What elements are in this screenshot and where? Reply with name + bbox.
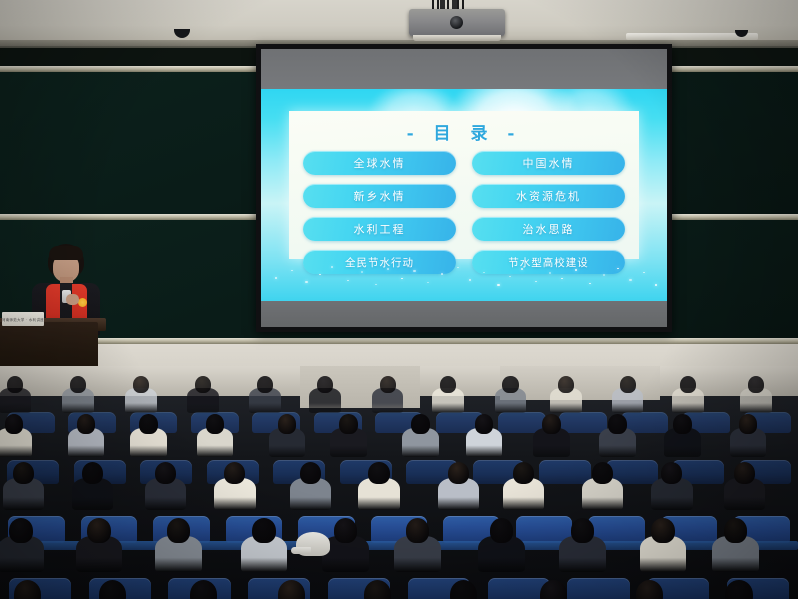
- presentation-slide: - 目 录 - 全球水情 中国水情 新乡水情 水资源危机 水: [261, 89, 667, 301]
- audience-person-head: [734, 462, 755, 484]
- audience-person-head: [206, 414, 225, 434]
- audience-person-head: [224, 462, 245, 484]
- audience-person-head: [475, 414, 494, 434]
- toc-item-campus-saving[interactable]: 节水型高校建设: [472, 250, 625, 274]
- audience-person-head: [5, 414, 24, 434]
- audience-cap: [296, 532, 330, 556]
- toc-item-label: 节水型高校建设: [508, 255, 589, 270]
- audience-person-head: [368, 462, 389, 484]
- audience-person-head: [724, 518, 748, 543]
- audience-area: [0, 366, 798, 599]
- sparkle-dot: [275, 277, 277, 279]
- audience-person-head: [155, 462, 176, 484]
- table-of-contents: 全球水情 中国水情 新乡水情 水资源危机 水利工程 治水思路: [303, 151, 625, 274]
- sparkle-dot: [509, 276, 511, 278]
- toc-item-water-crisis[interactable]: 水资源危机: [472, 184, 625, 208]
- audience-person-head: [608, 414, 627, 434]
- audience-person-head: [252, 518, 276, 543]
- sparkle-dot: [291, 270, 293, 272]
- audience-seat: [567, 578, 629, 599]
- audience-person-head: [748, 376, 764, 393]
- sparkle-dot: [643, 272, 645, 274]
- audience-person-head: [406, 518, 430, 543]
- audience-person-head: [82, 462, 103, 484]
- audience-person-head: [661, 462, 682, 484]
- sparkle-dot: [497, 284, 500, 287]
- toc-item-national-saving[interactable]: 全民节水行动: [303, 250, 456, 274]
- sparkle-dot: [655, 284, 657, 286]
- lectern-name-card-text: 河南师范大学 · 水利讲座: [2, 317, 44, 322]
- audience-person-head: [195, 376, 211, 393]
- audience-person-head: [13, 462, 34, 484]
- toc-item-label: 全球水情: [354, 155, 406, 171]
- audience-person-head: [540, 580, 567, 599]
- audience-person-head: [133, 376, 149, 393]
- projection-screen[interactable]: - 目 录 - 全球水情 中国水情 新乡水情 水资源危机 水: [256, 44, 672, 332]
- sparkle-dot: [561, 278, 563, 280]
- audience-seat: [539, 460, 591, 484]
- audience-person-head: [380, 376, 396, 393]
- projector-lens-icon: [450, 16, 463, 29]
- toc-item-label: 全民节水行动: [345, 255, 414, 270]
- presenter-fringe: [49, 246, 83, 260]
- sparkle-dot: [375, 284, 377, 286]
- audience-person-head: [620, 376, 636, 393]
- audience-person-head: [167, 518, 191, 543]
- audience-person-head: [139, 414, 158, 434]
- audience-person-head: [739, 414, 758, 434]
- slide-title: - 目 录 -: [289, 119, 639, 144]
- toc-item-label: 治水思路: [523, 221, 575, 237]
- audience-person-head: [651, 518, 675, 543]
- lecture-hall-photo: - 目 录 - 全球水情 中国水情 新乡水情 水资源危机 水: [0, 0, 798, 599]
- audience-person-head: [77, 414, 96, 434]
- audience-person-head: [411, 414, 430, 434]
- audience-person-head: [673, 414, 692, 434]
- sparkle-dot: [603, 274, 605, 276]
- sparkle-dot: [401, 278, 403, 280]
- audience-person-head: [450, 580, 477, 599]
- audience-person-head: [571, 518, 595, 543]
- audience-person-head: [513, 462, 534, 484]
- sparkle-dot: [469, 279, 471, 281]
- screen-dead-area-bottom: [261, 301, 667, 327]
- toc-item-water-engineering[interactable]: 水利工程: [303, 217, 456, 241]
- audience-person-head: [339, 414, 358, 434]
- audience-person-head: [7, 376, 23, 393]
- audience-person-head: [278, 414, 297, 434]
- audience-person-head: [334, 518, 358, 543]
- audience-seat: [559, 412, 607, 433]
- toc-item-label: 中国水情: [523, 155, 575, 171]
- toc-item-label: 水利工程: [354, 221, 406, 237]
- sparkle-dot: [305, 281, 308, 284]
- presenter-hand: [66, 294, 79, 305]
- audience-person-head: [300, 462, 321, 484]
- audience-person-head: [490, 518, 514, 543]
- audience-person-head: [70, 376, 86, 393]
- audience-person-head: [502, 376, 518, 393]
- sparkle-dot: [535, 281, 537, 283]
- audience-person-head: [440, 376, 456, 393]
- audience-person-head: [558, 376, 574, 393]
- lectern-name-card: 河南师范大学 · 水利讲座: [2, 312, 44, 326]
- toc-item-water-governance[interactable]: 治水思路: [472, 217, 625, 241]
- sparkle-dot: [629, 279, 632, 282]
- audience-person-head: [9, 518, 33, 543]
- toc-item-xinxiang-water[interactable]: 新乡水情: [303, 184, 456, 208]
- audience-person-head: [680, 376, 696, 393]
- audience-person-head: [257, 376, 273, 393]
- toc-item-label: 新乡水情: [354, 188, 406, 204]
- sparkle-dot: [589, 283, 591, 285]
- audience-person-head: [317, 376, 333, 393]
- screen-dead-area-top: [261, 49, 667, 89]
- audience-person-head: [542, 414, 561, 434]
- toc-item-label: 水资源危机: [516, 188, 581, 204]
- toc-item-china-water[interactable]: 中国水情: [472, 151, 625, 175]
- toc-item-global-water[interactable]: 全球水情: [303, 151, 456, 175]
- sparkle-dot: [427, 282, 429, 284]
- audience-person-head: [592, 462, 613, 484]
- slide-content-panel: - 目 录 - 全球水情 中国水情 新乡水情 水资源危机 水: [289, 111, 639, 259]
- audience-person-head: [87, 518, 111, 543]
- audience-person-head: [448, 462, 469, 484]
- sparkle-dot: [347, 280, 349, 282]
- vest-emblem-icon: [78, 298, 87, 307]
